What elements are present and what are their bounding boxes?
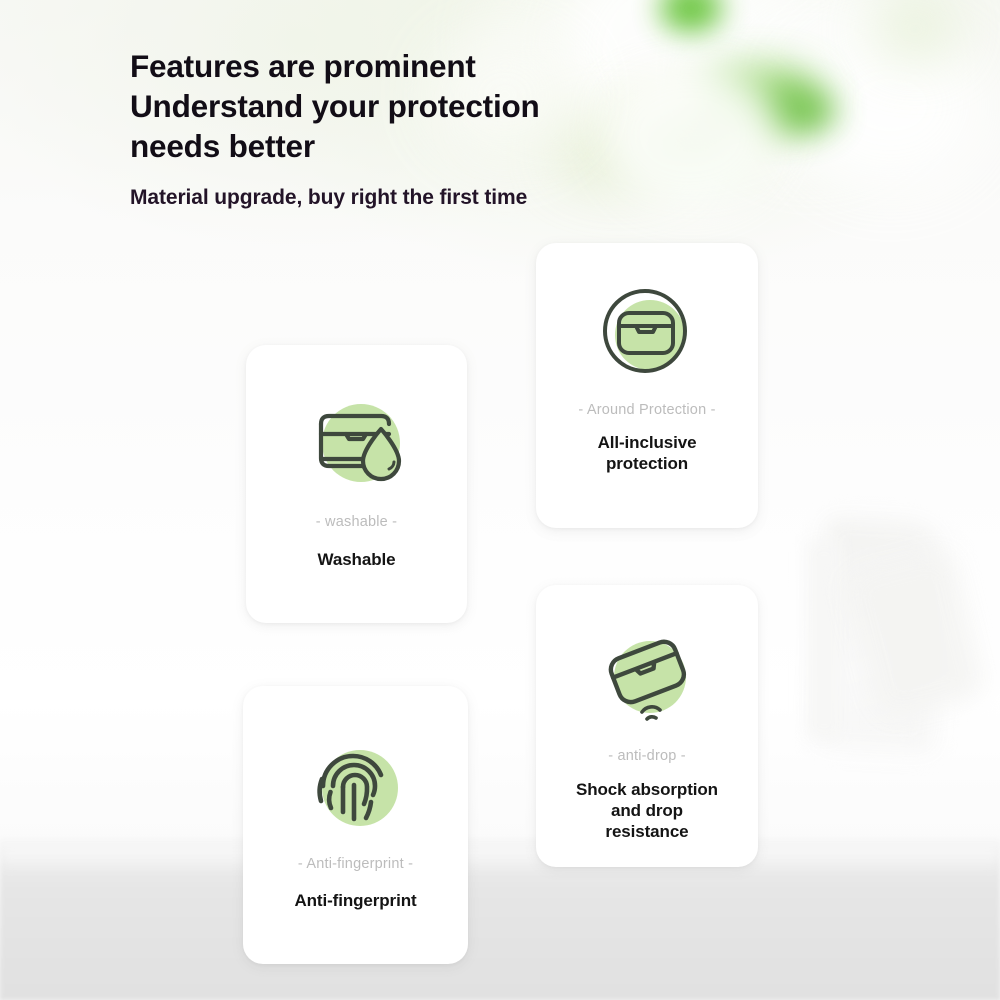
page-subtitle: Material upgrade, buy right the first ti… [130, 184, 540, 212]
case-in-circle-icon [595, 281, 699, 385]
feature-label-line-2: protection [606, 454, 688, 473]
page-title: Features are prominent Understand your p… [130, 46, 540, 166]
background-object [806, 540, 842, 740]
feature-label-line-3: resistance [605, 822, 688, 841]
feature-card-around-protection[interactable]: - Around Protection - All-inclusiveprote… [536, 243, 758, 528]
feature-label-line-2: and drop [611, 801, 683, 820]
page-title-line-2: Understand your protection [130, 88, 540, 124]
feature-card-anti-drop[interactable]: - anti-drop - Shock absorptionand dropre… [536, 585, 758, 867]
feature-label-line-1: Shock absorption [576, 780, 718, 799]
background-surface-highlight [0, 848, 1000, 874]
feature-label: Anti-fingerprint [294, 890, 416, 911]
feature-tag: - washable - [316, 514, 397, 530]
promo-banner: Features are prominent Understand your p… [0, 0, 1000, 1000]
page-title-line-1: Features are prominent [130, 48, 476, 84]
fingerprint-icon [304, 734, 408, 838]
feature-card-anti-fingerprint[interactable]: - Anti-fingerprint - Anti-fingerprint [243, 686, 468, 964]
tilted-case-with-impact-waves-icon [595, 625, 699, 729]
feature-tag: - anti-drop - [608, 748, 686, 764]
case-with-water-drop-icon [305, 391, 409, 495]
feature-label: All-inclusiveprotection [598, 432, 697, 474]
bokeh-petal [600, 60, 780, 210]
page-title-line-3: needs better [130, 128, 315, 164]
headline-block: Features are prominent Understand your p… [130, 46, 540, 212]
feature-tag: - Around Protection - [578, 402, 715, 418]
feature-label: Shock absorptionand dropresistance [576, 779, 718, 842]
feature-card-washable[interactable]: - washable - Washable [246, 345, 467, 623]
feature-tag: - Anti-fingerprint - [298, 856, 413, 872]
feature-label-line-1: All-inclusive [598, 433, 697, 452]
feature-label: Washable [318, 549, 396, 570]
